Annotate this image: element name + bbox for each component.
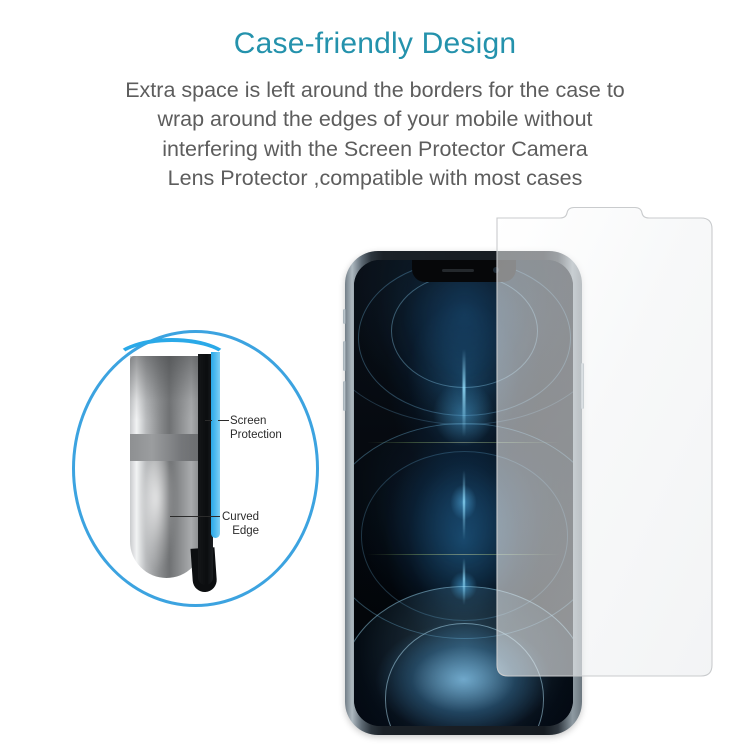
mute-switch-button[interactable] (343, 309, 346, 324)
screen-protector-sheet (497, 207, 712, 677)
callout-screen-protection-line1: Screen (230, 415, 266, 427)
screen-protection-leader-line (218, 420, 229, 421)
protector-outline (497, 208, 712, 677)
header: Case-friendly Design Extra space is left… (0, 0, 750, 194)
subtitle-line-3: interfering with the Screen Protector Ca… (30, 135, 720, 164)
curved-edge-leader-line (170, 516, 220, 517)
wallpaper-light-spike (463, 558, 465, 605)
edge-detail-inset: Screen Protection Curved Edge (72, 330, 337, 615)
volume-up-button[interactable] (343, 341, 346, 371)
subtitle-line-4: Lens Protector ,compatible with most cas… (30, 164, 720, 193)
earpiece-speaker-icon (442, 269, 474, 272)
page-subtitle: Extra space is left around the borders f… (30, 62, 720, 194)
callout-screen-protection-line2: Protection (230, 428, 282, 442)
page-title: Case-friendly Design (0, 0, 750, 62)
callout-screen-protection: Screen Protection (230, 414, 282, 442)
phone-metal-edge-graphic (130, 356, 203, 578)
callout-curved-edge-line1: Curved (222, 511, 259, 523)
wallpaper-light-spike (462, 349, 465, 438)
screen-protection-top-arc (112, 338, 232, 388)
volume-down-button[interactable] (343, 381, 346, 411)
phone-edge-band (130, 434, 203, 461)
product-feature-panel: Case-friendly Design Extra space is left… (0, 0, 750, 750)
wallpaper-light-spike (463, 470, 465, 540)
subtitle-line-2: wrap around the edges of your mobile wit… (30, 105, 720, 134)
screen-protection-leader-dash (205, 420, 212, 421)
callout-curved-edge: Curved Edge (222, 510, 259, 538)
subtitle-line-1: Extra space is left around the borders f… (30, 76, 720, 105)
callout-curved-edge-line2: Edge (222, 524, 259, 538)
